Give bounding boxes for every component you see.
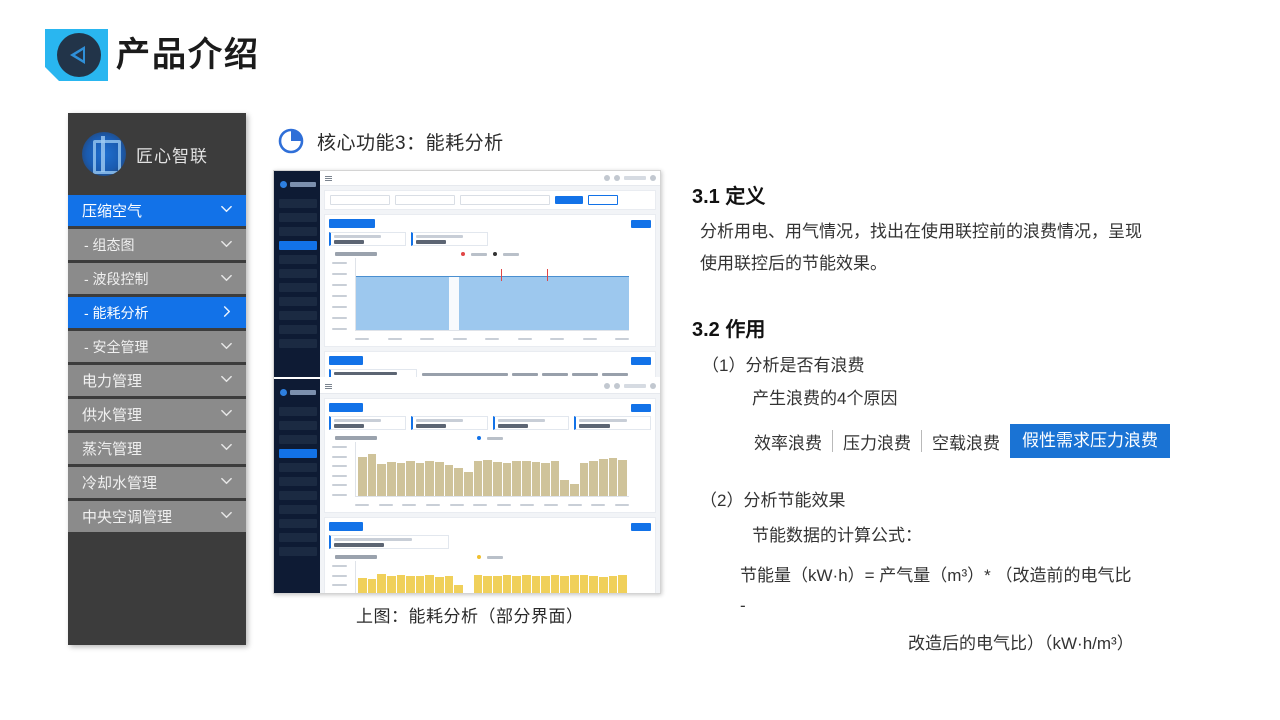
- product-sidebar: 匠心智联 压缩空气- 组态图- 波段控制- 能耗分析- 安全管理电力管理供水管理…: [68, 113, 246, 645]
- usage-heading: 3.2 作用: [692, 313, 765, 342]
- chevron-down-icon: [220, 237, 233, 253]
- waste-reason-row: 效率浪费 压力浪费 空载浪费 假性需求压力浪费: [754, 424, 1170, 458]
- usage-item-1-sub: 产生浪费的4个原因: [752, 383, 897, 415]
- feature-title-text: 核心功能3：能耗分析: [317, 128, 504, 155]
- app-brand: [278, 384, 316, 400]
- definition-line-2: 使用联控后的节能效果。: [700, 248, 1230, 280]
- filter-bar[interactable]: [324, 190, 656, 210]
- query-button[interactable]: [555, 196, 583, 204]
- formula-line-2: -: [740, 590, 746, 622]
- definition-line-1: 分析用电、用气情况，找出在使用联控前的浪费情况，呈现: [700, 216, 1230, 248]
- waste-reason-0: 效率浪费: [754, 429, 822, 454]
- sidebar-item-5[interactable]: 电力管理: [68, 365, 246, 396]
- avatar: [614, 175, 620, 181]
- app-content: [320, 379, 660, 594]
- search-icon: [604, 383, 610, 389]
- definition-heading: 3.1 定义: [692, 180, 765, 209]
- sidebar-item-label: 蒸汽管理: [82, 438, 142, 459]
- bar-chart-gold: [329, 553, 651, 594]
- sidebar-item-4[interactable]: - 安全管理: [68, 331, 246, 362]
- expand-button[interactable]: [631, 357, 651, 365]
- sidebar-menu: 压缩空气- 组态图- 波段控制- 能耗分析- 安全管理电力管理供水管理蒸汽管理冷…: [68, 195, 246, 532]
- sidebar-item-label: - 组态图: [84, 235, 135, 255]
- sidebar-item-label: 供水管理: [82, 404, 142, 425]
- area-chart: [329, 250, 651, 342]
- sidebar-item-label: 电力管理: [82, 370, 142, 391]
- chevron-down-icon: [220, 474, 233, 491]
- sidebar-item-label: - 波段控制: [84, 269, 149, 289]
- pie-chart-icon: [276, 126, 306, 156]
- sidebar-item-6[interactable]: 供水管理: [68, 399, 246, 430]
- sidebar-item-7[interactable]: 蒸汽管理: [68, 433, 246, 464]
- app-topbar: [320, 171, 660, 186]
- bar-chart-khaki: [329, 434, 651, 508]
- gear-icon: [650, 175, 656, 181]
- expand-button[interactable]: [631, 523, 651, 531]
- formula-line-3: 改造后的电气比）（kW·h/m³）: [908, 628, 1134, 660]
- app-screenshot: [273, 170, 661, 594]
- play-left-icon: [70, 46, 85, 64]
- chevron-down-icon: [220, 271, 233, 287]
- screenshot-panel-bottom: [274, 377, 660, 594]
- chevron-down-icon: [220, 339, 233, 355]
- formula-line-1: 节能量（kW·h）= 产气量（m³）* （改造前的电气比: [740, 560, 1240, 592]
- waste-reason-2: 空载浪费: [932, 429, 1000, 454]
- sidebar-item-label: - 能耗分析: [84, 303, 149, 323]
- sidebar-item-8[interactable]: 冷却水管理: [68, 467, 246, 498]
- waste-reason-highlight-badge[interactable]: 假性需求压力浪费: [1010, 424, 1170, 458]
- expand-button[interactable]: [631, 404, 651, 412]
- table-header-row: [422, 369, 651, 377]
- data-table: [329, 369, 651, 377]
- screenshot-panel-top: [274, 171, 660, 377]
- waste-reason-1: 压力浪费: [843, 429, 911, 454]
- chevron-down-icon: [220, 372, 233, 389]
- menu-icon[interactable]: [325, 176, 332, 181]
- screenshot-caption: 上图：能耗分析（部分界面）: [356, 602, 584, 627]
- usage-item-2: （2）分析节能效果: [700, 485, 845, 517]
- sidebar-item-label: - 安全管理: [84, 337, 149, 357]
- chevron-down-icon: [220, 406, 233, 423]
- app-content: [320, 171, 660, 377]
- sidebar-item-1[interactable]: - 组态图: [68, 229, 246, 260]
- detail-table-card: [324, 351, 656, 377]
- back-icon-circle[interactable]: [57, 33, 101, 77]
- app-brand: [278, 176, 316, 192]
- divider: [832, 430, 833, 452]
- usage-item-2-sub: 节能数据的计算公式：: [752, 520, 922, 552]
- sidebar-brand: 匠心智联: [68, 113, 246, 195]
- usage-item-1: （1）分析是否有浪费: [702, 350, 864, 382]
- sidebar-item-9[interactable]: 中央空调管理: [68, 501, 246, 532]
- gear-icon: [650, 383, 656, 389]
- chevron-down-icon: [220, 202, 233, 219]
- gas-analysis-card: [324, 398, 656, 513]
- app-topbar: [320, 379, 660, 394]
- reset-button[interactable]: [588, 195, 618, 205]
- sidebar-item-3[interactable]: - 能耗分析: [68, 297, 246, 328]
- sidebar-brand-label: 匠心智联: [136, 142, 208, 167]
- menu-icon[interactable]: [325, 384, 332, 389]
- divider: [921, 430, 922, 452]
- card-tab[interactable]: [329, 403, 363, 412]
- sidebar-item-2[interactable]: - 波段控制: [68, 263, 246, 294]
- power-analysis-card: [324, 517, 656, 594]
- avatar: [614, 383, 620, 389]
- expand-button[interactable]: [631, 220, 651, 228]
- sidebar-item-label: 压缩空气: [82, 200, 142, 221]
- brand-logo-icon: [82, 132, 126, 176]
- card-tab[interactable]: [329, 356, 363, 365]
- card-tab[interactable]: [329, 219, 375, 228]
- app-nav: [274, 379, 320, 594]
- search-icon: [604, 175, 610, 181]
- card-tab[interactable]: [329, 522, 363, 531]
- sidebar-item-label: 冷却水管理: [82, 472, 157, 493]
- definition-body: 分析用电、用气情况，找出在使用联控前的浪费情况，呈现 使用联控后的节能效果。: [700, 216, 1230, 280]
- chevron-down-icon: [220, 508, 233, 525]
- chevron-right-icon: [220, 305, 233, 321]
- sidebar-item-label: 中央空调管理: [82, 506, 172, 527]
- slide-header: 产品介绍: [0, 0, 1280, 100]
- trend-card: [324, 214, 656, 347]
- page-title: 产品介绍: [116, 32, 260, 78]
- sidebar-item-0[interactable]: 压缩空气: [68, 195, 246, 226]
- feature-title-row: 核心功能3：能耗分析: [276, 126, 504, 156]
- app-nav: [274, 171, 320, 377]
- chevron-down-icon: [220, 440, 233, 457]
